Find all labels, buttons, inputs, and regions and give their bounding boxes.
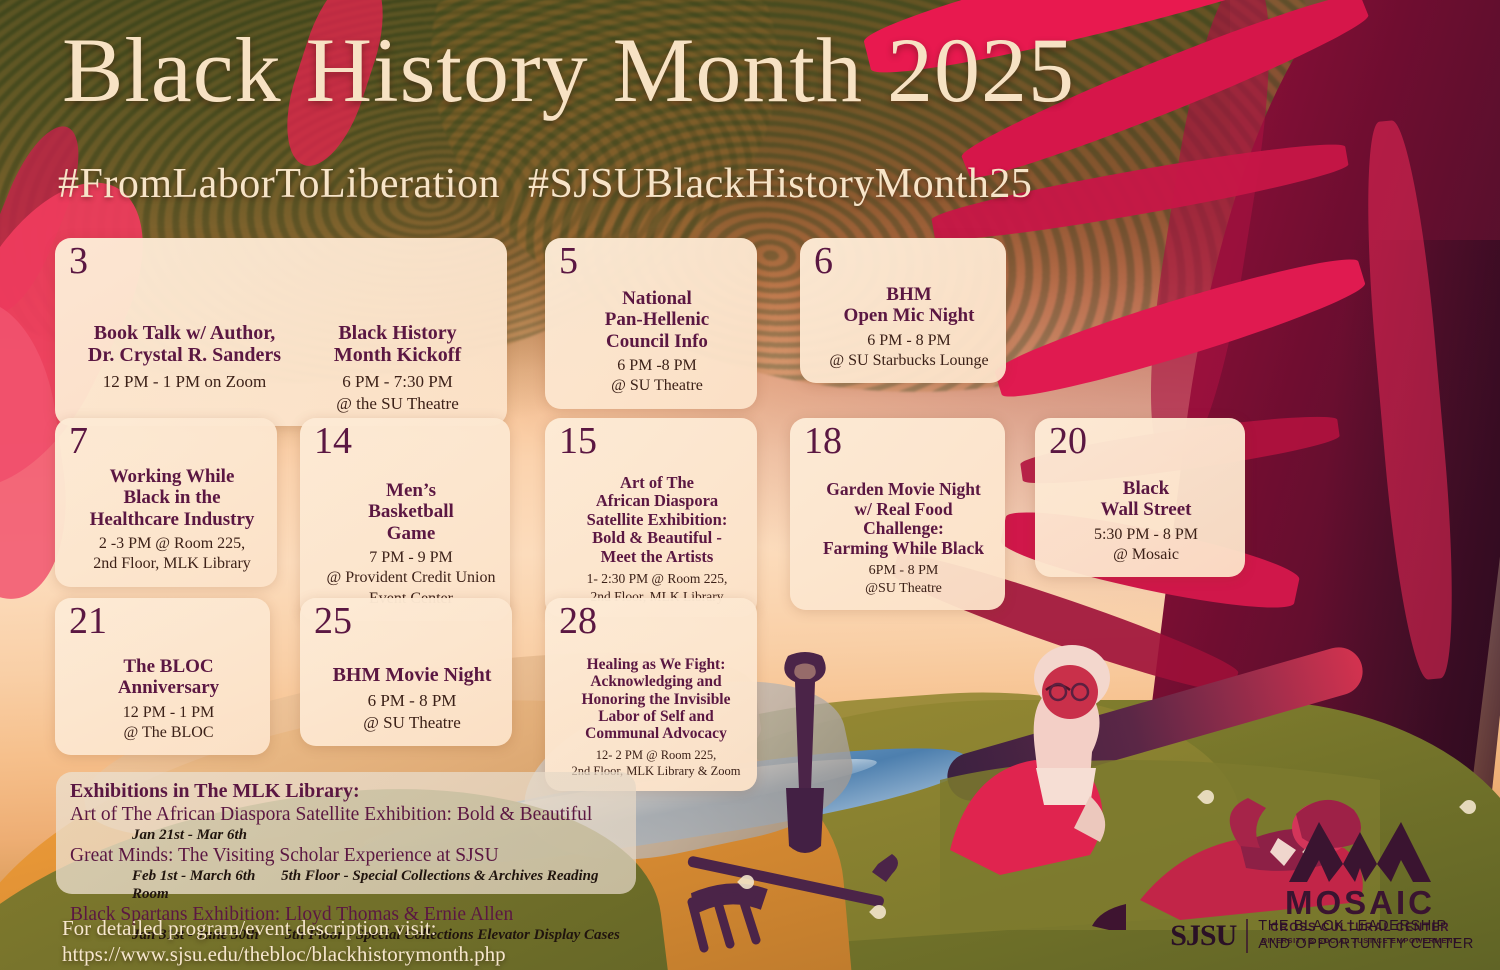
exhibition-dates: Feb 1st - March 6th	[132, 868, 255, 884]
event-time-location: 6 PM -8 PM @ SU Theatre	[569, 356, 745, 397]
exhibitions-panel: Exhibitions in The MLK Library: Art of T…	[56, 772, 636, 894]
event-entry[interactable]: Working While Black in the Healthcare In…	[79, 466, 265, 575]
event-card-day-7[interactable]: 7Working While Black in the Healthcare I…	[55, 418, 277, 587]
event-title: Black Wall Street	[1059, 478, 1233, 521]
event-card-day-3[interactable]: 3Book Talk w/ Author, Dr. Crystal R. San…	[55, 238, 507, 426]
event-day-number: 15	[559, 422, 597, 460]
exhibition-dates-row: Jan 21st - Mar 6th	[70, 826, 622, 844]
bloc-line-1: THE BLACK LEADERSHIP	[1258, 918, 1474, 936]
event-entry[interactable]: The BLOC Anniversary12 PM - 1 PM @ The B…	[79, 656, 258, 743]
event-time-location: 2 -3 PM @ Room 225, 2nd Floor, MLK Libra…	[79, 534, 265, 575]
event-time-location: 6 PM - 7:30 PM @ the SU Theatre	[300, 371, 495, 415]
exhibition-dates: Jan 21st - Mar 6th	[132, 827, 247, 843]
event-title: Art of The African Diaspora Satellite Ex…	[569, 474, 745, 566]
event-day-number: 6	[814, 242, 833, 280]
event-day-number: 25	[314, 602, 352, 640]
mosaic-mark-icon	[1285, 812, 1435, 884]
event-day-number: 7	[69, 422, 88, 460]
event-entry[interactable]: National Pan-Hellenic Council Info6 PM -…	[569, 288, 745, 397]
event-card-day-18[interactable]: 18Garden Movie Night w/ Real Food Challe…	[790, 418, 1005, 610]
event-title: BHM Movie Night	[324, 664, 500, 686]
event-time-location: 6 PM - 8 PM @ SU Starbucks Lounge	[824, 331, 994, 372]
event-time-location: 12 PM - 1 PM on Zoom	[87, 371, 282, 393]
event-card-day-5[interactable]: 5National Pan-Hellenic Council Info6 PM …	[545, 238, 757, 409]
event-time-location: 12 PM - 1 PM @ The BLOC	[79, 703, 258, 744]
event-day-number: 28	[559, 602, 597, 640]
event-title: Garden Movie Night w/ Real Food Challeng…	[814, 480, 993, 558]
event-day-number: 5	[559, 242, 578, 280]
event-card-day-20[interactable]: 20Black Wall Street5:30 PM - 8 PM @ Mosa…	[1035, 418, 1245, 577]
event-day-number: 20	[1049, 422, 1087, 460]
event-title: Book Talk w/ Author, Dr. Crystal R. Sand…	[87, 322, 282, 367]
event-card-day-14[interactable]: 14Men’s Basketball Game7 PM - 9 PM @ Pro…	[300, 418, 510, 621]
mosaic-wordmark: MOSAIC	[1250, 886, 1470, 919]
exhibition-name: Art of The African Diaspora Satellite Ex…	[70, 803, 622, 826]
event-entry[interactable]: Art of The African Diaspora Satellite Ex…	[569, 474, 745, 605]
event-entry[interactable]: Book Talk w/ Author, Dr. Crystal R. Sand…	[87, 322, 282, 414]
bloc-center-name: THE BLACK LEADERSHIP AND OPPORTUNITY CEN…	[1258, 918, 1474, 954]
event-title: Working While Black in the Healthcare In…	[79, 466, 265, 530]
event-day-number: 18	[804, 422, 842, 460]
exhibition-dates-row: Feb 1st - March 6th 5th Floor - Special …	[70, 867, 622, 903]
footer-info: For detailed program/event description v…	[62, 915, 506, 967]
event-day-number: 21	[69, 602, 107, 640]
event-entry[interactable]: BHM Open Mic Night6 PM - 8 PM @ SU Starb…	[824, 284, 994, 371]
exhibitions-heading: Exhibitions in The MLK Library:	[70, 780, 622, 803]
event-title: National Pan-Hellenic Council Info	[569, 288, 745, 352]
event-time-location: 6 PM - 8 PM @ SU Theatre	[324, 690, 500, 734]
event-entry[interactable]: Black Wall Street5:30 PM - 8 PM @ Mosaic	[1059, 478, 1233, 565]
sjsu-wordmark: SJSU	[1170, 919, 1236, 953]
event-title: BHM Open Mic Night	[824, 284, 994, 327]
exhibition-name: Great Minds: The Visiting Scholar Experi…	[70, 844, 622, 867]
event-card-day-15[interactable]: 15Art of The African Diaspora Satellite …	[545, 418, 757, 617]
bloc-line-2: AND OPPORTUNITY CENTER	[1258, 936, 1474, 954]
poster-canvas: Black History Month 2025 #FromLaborToLib…	[0, 0, 1500, 970]
event-entry[interactable]: Healing as We Fight: Acknowledging and H…	[567, 656, 745, 779]
event-entry[interactable]: BHM Movie Night6 PM - 8 PM @ SU Theatre	[324, 664, 500, 734]
event-title: The BLOC Anniversary	[79, 656, 258, 699]
event-title: Healing as We Fight: Acknowledging and H…	[567, 656, 745, 743]
event-card-day-28[interactable]: 28Healing as We Fight: Acknowledging and…	[545, 598, 757, 791]
event-card-day-21[interactable]: 21The BLOC Anniversary12 PM - 1 PM @ The…	[55, 598, 270, 755]
event-day-number: 14	[314, 422, 352, 460]
footer-url[interactable]: https://www.sjsu.edu/thebloc/blackhistor…	[62, 941, 506, 967]
event-entry[interactable]: Garden Movie Night w/ Real Food Challeng…	[814, 480, 993, 598]
event-title: Men’s Basketball Game	[324, 480, 498, 544]
event-time-location: 5:30 PM - 8 PM @ Mosaic	[1059, 525, 1233, 566]
event-time-location: 6PM - 8 PM @SU Theatre	[814, 562, 993, 598]
event-entry[interactable]: Men’s Basketball Game7 PM - 9 PM @ Provi…	[324, 480, 498, 609]
event-card-day-6[interactable]: 6BHM Open Mic Night6 PM - 8 PM @ SU Star…	[800, 238, 1006, 383]
sjsu-bloc-logo: SJSU THE BLACK LEADERSHIP AND OPPORTUNIT…	[1170, 918, 1474, 954]
event-card-day-25[interactable]: 25BHM Movie Night6 PM - 8 PM @ SU Theatr…	[300, 598, 512, 746]
event-title: Black History Month Kickoff	[300, 322, 495, 367]
event-entry[interactable]: Black History Month Kickoff6 PM - 7:30 P…	[300, 322, 495, 414]
event-day-number: 3	[69, 242, 88, 280]
logo-divider	[1246, 919, 1248, 953]
footer-prompt: For detailed program/event description v…	[62, 915, 506, 941]
